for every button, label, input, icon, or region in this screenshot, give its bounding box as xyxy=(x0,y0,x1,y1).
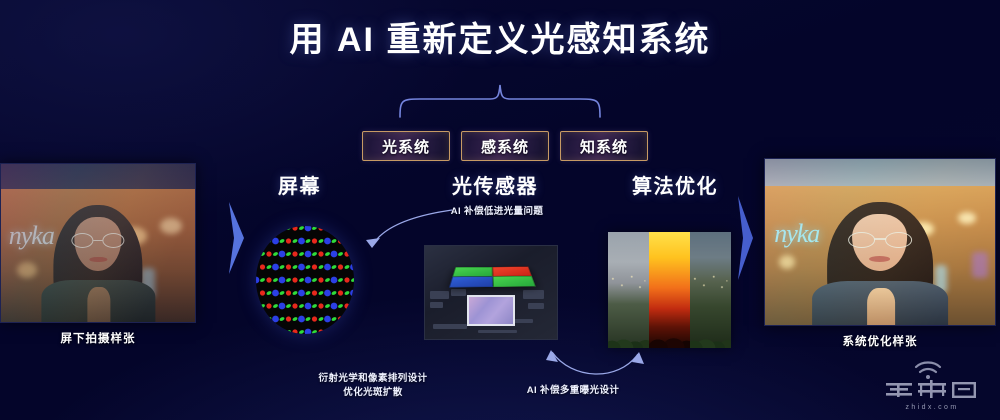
caption-diffractive-line1: 衍射光学和像素排列设计 xyxy=(319,373,428,384)
curved-arrow-head-icon xyxy=(366,238,380,248)
system-box-sense-label: 感系统 xyxy=(481,136,529,157)
sensor-die xyxy=(467,295,515,326)
caption-ai-low-light: AI 补偿低进光量问题 xyxy=(422,205,572,219)
system-box-know[interactable]: 知系统 xyxy=(560,131,648,161)
arrow-head-right-icon xyxy=(632,352,644,364)
photo-caption-optimized: 系统优化样张 xyxy=(764,333,996,349)
multi-exposure-strips-visual xyxy=(608,232,731,348)
rgb-subpixel-array-visual xyxy=(256,226,354,334)
exposure-strip-overexposed xyxy=(649,232,690,348)
photo-under-display-sample: nyka xyxy=(0,163,196,323)
strip-city-lights xyxy=(690,271,731,297)
strip-foliage xyxy=(649,309,690,348)
watermark-logo: zhidx.com xyxy=(872,356,992,414)
strip-foliage xyxy=(608,309,649,348)
page-title: 用 AI 重新定义光感知系统 xyxy=(0,12,1000,61)
curly-brace-icon xyxy=(398,84,602,118)
scene-flare-overlay xyxy=(1,164,195,322)
double-headed-curved-arrow-icon xyxy=(552,352,638,374)
night-scene-bright: nyka xyxy=(765,159,995,325)
exposure-strip-balanced xyxy=(690,232,731,348)
strip-city-lights xyxy=(608,271,649,297)
subpixel-pattern xyxy=(256,226,354,334)
caption-diffractive-optics: 衍射光学和像素排列设计 优化光斑扩散 xyxy=(283,372,463,400)
system-box-know-label: 知系统 xyxy=(580,136,628,157)
slide-canvas: 用 AI 重新定义光感知系统 光系统 感系统 知系统 屏幕 光传感器 算法优化 … xyxy=(0,0,1000,420)
image-sensor-module-visual xyxy=(424,245,558,340)
scene-flare-overlay xyxy=(765,159,995,325)
caption-diffractive-line2: 优化光斑扩散 xyxy=(343,387,402,398)
strip-foliage xyxy=(690,309,731,348)
system-box-sense[interactable]: 感系统 xyxy=(461,131,549,161)
system-box-light-label: 光系统 xyxy=(382,136,430,157)
triangle-arrow-right-icon xyxy=(738,196,753,280)
arrow-head-left-icon xyxy=(546,350,558,362)
caption-ai-multi-exposure: AI 补偿多重曝光设计 xyxy=(488,384,658,398)
system-box-light[interactable]: 光系统 xyxy=(362,131,450,161)
system-box-group: 光系统 感系统 知系统 xyxy=(362,131,648,161)
exposure-strip-underexposed xyxy=(608,232,649,348)
triangle-arrow-right-icon xyxy=(229,202,244,274)
watermark-url: zhidx.com xyxy=(905,404,958,411)
stage-header-screen: 屏幕 xyxy=(278,170,321,199)
night-scene-dim: nyka xyxy=(1,164,195,322)
photo-optimized-sample: nyka xyxy=(764,158,996,326)
bayer-filter-quad xyxy=(449,266,536,287)
stage-header-sensor: 光传感器 xyxy=(452,170,538,199)
stage-header-algorithm: 算法优化 xyxy=(632,170,718,199)
photo-caption-under-display: 屏下拍摄样张 xyxy=(0,330,196,346)
